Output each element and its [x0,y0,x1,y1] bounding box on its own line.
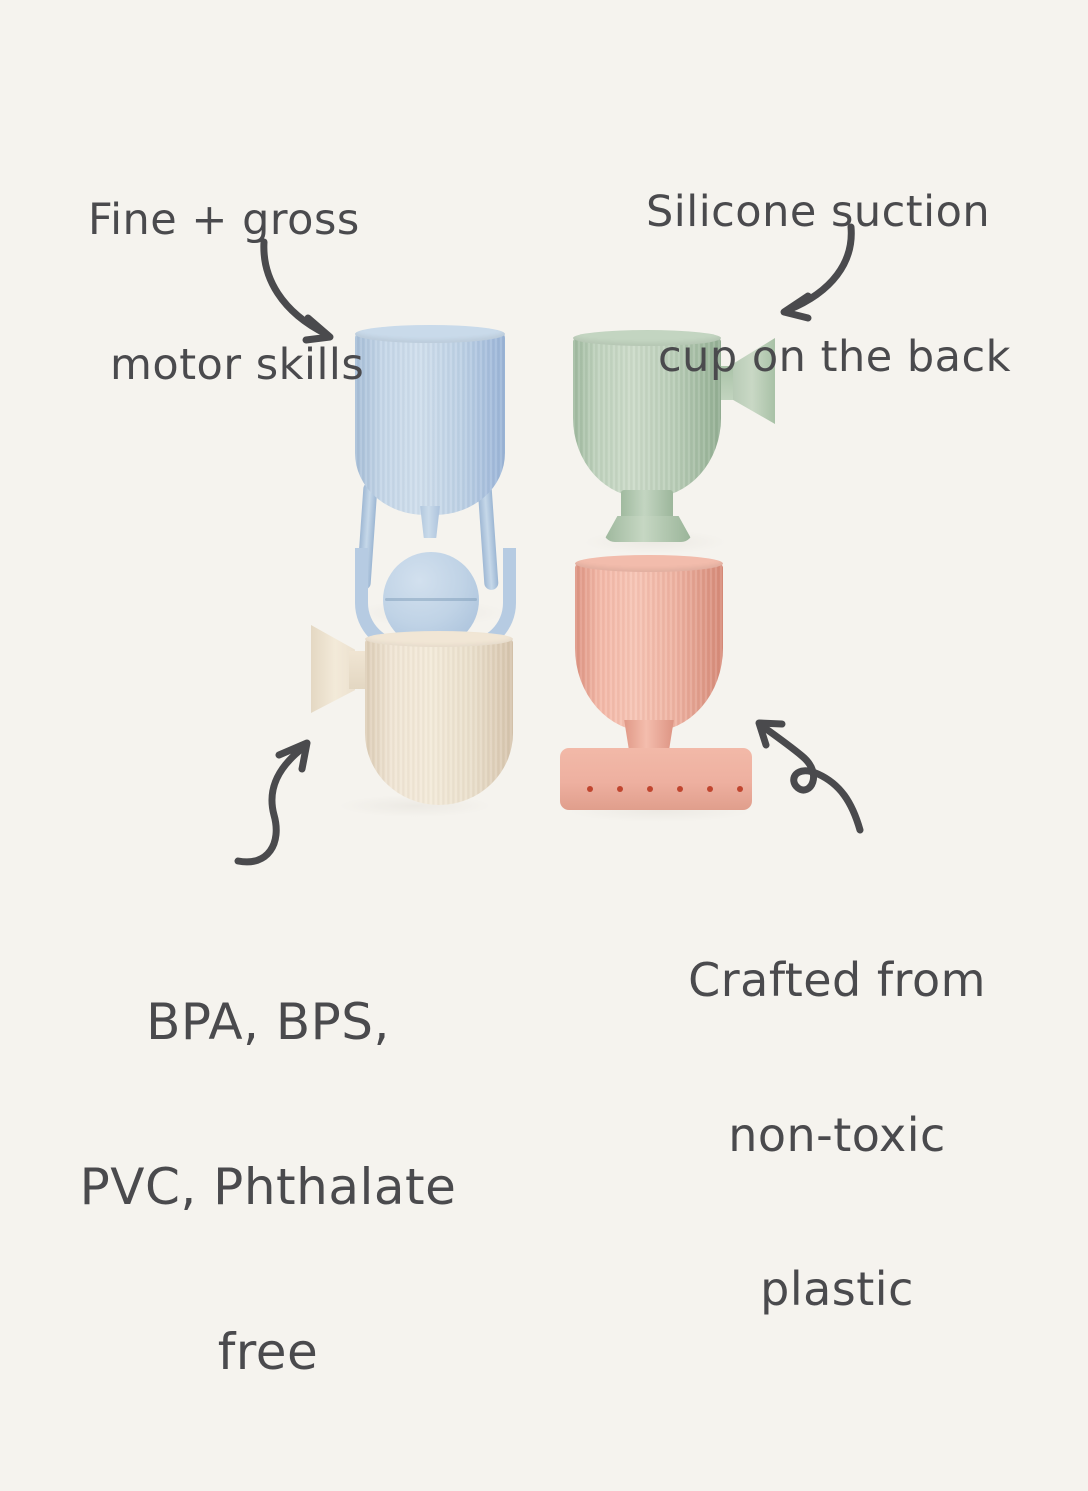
callout-line: non-toxic [672,1110,1002,1162]
blue-cup-ribbing [355,330,505,515]
callout-line: Crafted from [672,955,1002,1007]
blue-cup-rim [355,325,505,343]
pink-cup-hole [707,786,713,792]
cream-cup-ribbing [365,637,513,805]
callout-line: free [58,1325,478,1380]
pink-cup-hole [647,786,653,792]
callout-line: BPA, BPS, [58,995,478,1050]
callout-line: Silicone suction [646,188,1011,236]
infographic-canvas: Fine + gross motor skills Silicone sucti… [0,0,1088,1084]
blue-cup-disc-seam [385,598,477,601]
callout-crafted-from-non-toxic-plastic: Crafted from non-toxic plastic [672,852,1002,1419]
callout-bpa-bps-pvc-phthalate-free: BPA, BPS, PVC, Phthalate free [58,885,478,1490]
pink-cup-hole [677,786,683,792]
arrow-to-cream-cup-icon [232,733,322,868]
callout-line: cup on the back [646,333,1011,381]
callout-line: Fine + gross [88,196,364,244]
pink-cup-base-bar [560,748,752,810]
pink-cup-rim [575,555,723,572]
arrow-to-pink-cup-icon [752,712,872,837]
blue-cup-body [355,330,505,515]
blue-cup-nub [417,506,443,538]
callout-line: PVC, Phthalate [58,1160,478,1215]
pink-cup-ribbing [575,562,723,732]
callout-line: motor skills [88,341,364,389]
green-cup-foot [603,516,693,542]
pink-cup-hole [617,786,623,792]
pink-cup-hole [587,786,593,792]
cream-cup-rim [365,631,513,647]
cream-cup-body [365,637,513,805]
callout-line: plastic [672,1264,1002,1316]
product-cream-cup [305,615,520,815]
callout-silicone-suction-cup: Silicone suction cup on the back [646,92,1011,477]
callout-fine-gross-motor-skills: Fine + gross motor skills [88,100,364,485]
product-pink-cup [560,558,760,810]
green-cup-stem [621,490,673,520]
pink-cup-hole [737,786,743,792]
pink-cup-body [575,562,723,732]
